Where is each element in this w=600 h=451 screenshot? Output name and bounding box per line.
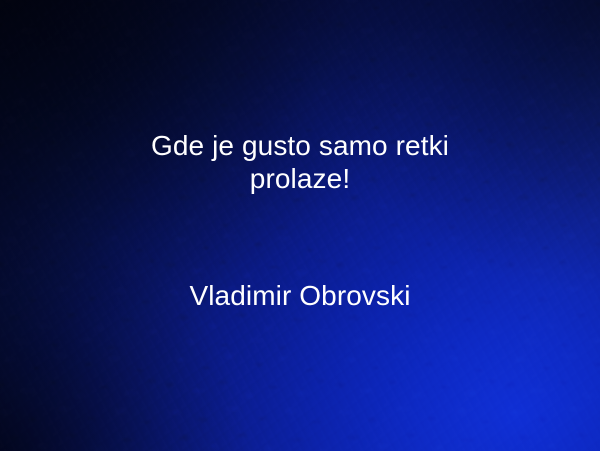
presentation-slide: Gde je gusto samo retki prolaze! Vladimi…: [0, 0, 600, 451]
slide-title-line-2: prolaze!: [0, 162, 600, 195]
slide-title: Gde je gusto samo retki prolaze!: [0, 129, 600, 195]
slide-content: Gde je gusto samo retki prolaze! Vladimi…: [0, 0, 600, 451]
slide-author-name: Vladimir Obrovski: [0, 279, 600, 312]
slide-title-line-1: Gde je gusto samo retki: [0, 129, 600, 162]
slide-author: Vladimir Obrovski: [0, 279, 600, 312]
